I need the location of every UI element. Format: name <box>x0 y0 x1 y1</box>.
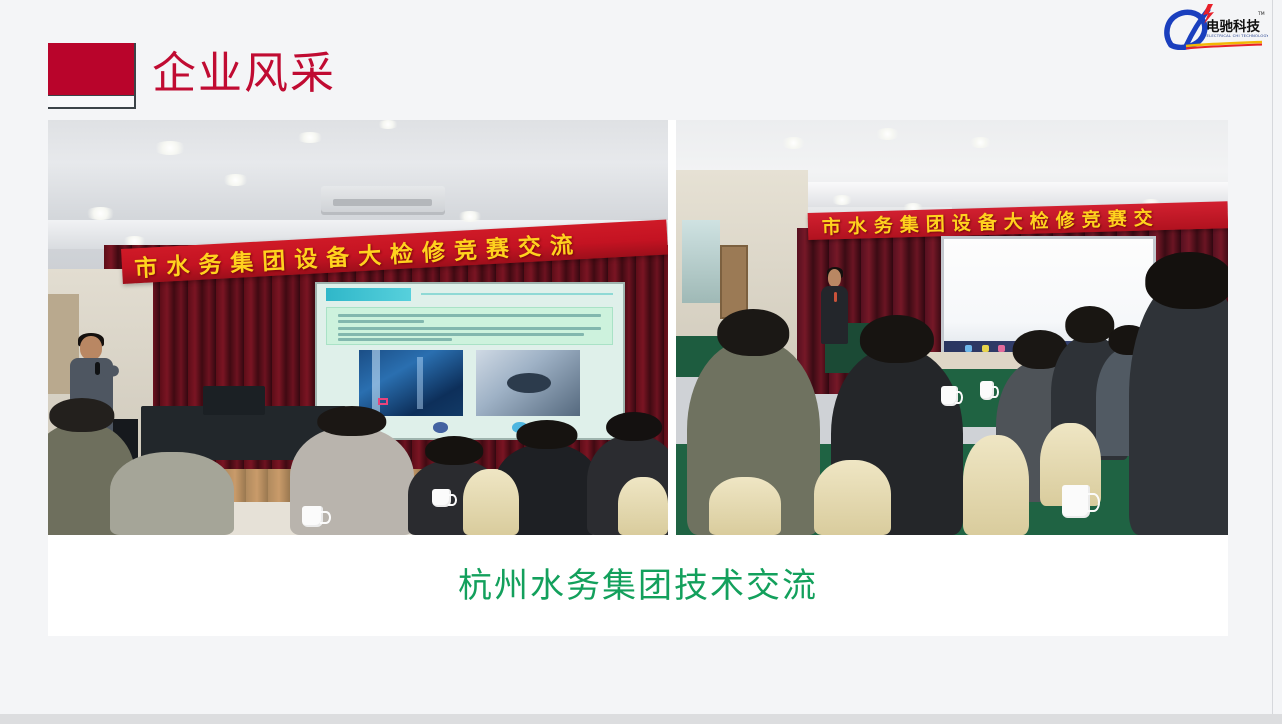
gallery-caption: 杭州水务集团技术交流 <box>458 564 818 608</box>
svg-text:电驰科技: 电驰科技 <box>1206 18 1260 35</box>
photo-gallery: 市水务集团设备大检修竞赛交流 <box>48 120 1228 535</box>
title-accent-block <box>48 43 136 109</box>
gallery-photo-2[interactable]: 市水务集团设备大检修竞赛交 <box>676 120 1228 535</box>
slide-header-bar <box>326 288 412 300</box>
photo1-downlight <box>222 174 250 186</box>
photo2-downlight <box>875 128 900 140</box>
attendee-head <box>1146 252 1228 309</box>
photo2-teacup <box>1062 485 1090 518</box>
page-root: 企业风采 电驰科技 ELECTRICAL CHI TECHNOLOGY TM <box>0 0 1282 724</box>
photo2-attendee <box>1129 278 1228 535</box>
slide-text-box <box>326 307 614 345</box>
presenter-microphone <box>834 292 837 302</box>
presenter-head <box>828 269 841 287</box>
photo2-presenter <box>820 269 850 344</box>
slide-photo-right <box>476 350 580 416</box>
slide-rule <box>421 293 614 295</box>
slide-text-line <box>338 314 601 317</box>
content-card: 市水务集团设备大检修竞赛交流 <box>48 120 1228 636</box>
attendee-head <box>860 315 934 364</box>
photo1-downlight <box>377 120 399 129</box>
gallery-photo-1[interactable]: 市水务集团设备大检修竞赛交流 <box>48 120 668 535</box>
svg-text:TM: TM <box>1257 11 1265 17</box>
photo2-chair <box>709 477 781 535</box>
page-header: 企业风采 电驰科技 ELECTRICAL CHI TECHNOLOGY TM <box>0 0 1282 120</box>
photo1-chair <box>463 469 519 535</box>
presenter-head <box>80 336 102 360</box>
svg-text:ELECTRICAL CHI TECHNOLOGY: ELECTRICAL CHI TECHNOLOGY <box>1207 34 1269 38</box>
caption-row: 杭州水务集团技术交流 <box>48 535 1228 636</box>
slide-highlight-box <box>378 398 387 405</box>
photo2-teacup <box>980 381 994 399</box>
slide-text-line <box>338 338 452 341</box>
photo1-air-conditioner <box>321 186 445 215</box>
photo2-downlight <box>781 137 806 149</box>
photo1-chair <box>618 477 668 535</box>
attendee-head <box>517 420 578 449</box>
brand-logo[interactable]: 电驰科技 ELECTRICAL CHI TECHNOLOGY TM <box>1160 2 1268 50</box>
photo2-door <box>720 245 748 320</box>
photo1-monitor <box>203 386 265 415</box>
slide-photo-left <box>359 350 463 416</box>
attendee-head <box>425 436 483 464</box>
taskbar-item <box>982 345 989 352</box>
slide-text-line <box>338 320 424 323</box>
page-title: 企业风采 <box>152 44 336 104</box>
photo2-downlight <box>969 137 992 148</box>
presenter-microphone <box>95 362 99 375</box>
photo1-teacup <box>302 506 323 527</box>
attendee-head <box>606 412 662 442</box>
attendee-head <box>49 398 114 432</box>
slide-text-line <box>338 327 601 330</box>
photo1-attendee <box>110 452 234 535</box>
photo1-downlight <box>153 141 187 155</box>
bottom-band <box>0 714 1282 724</box>
title-accent-strip <box>48 95 134 107</box>
photo1-teacup <box>432 489 451 506</box>
photo2-window <box>682 220 721 303</box>
photo2-chair <box>963 435 1029 535</box>
taskbar-item <box>965 345 972 352</box>
photo2-teacup <box>941 386 958 407</box>
attendee-head <box>718 309 790 356</box>
slide-footer-icon <box>433 422 448 433</box>
photo2-chair <box>814 460 891 535</box>
scrollbar-track[interactable] <box>1272 0 1273 714</box>
slide-text-line <box>338 333 584 336</box>
taskbar-item <box>998 345 1005 352</box>
photo2-downlight <box>831 195 853 205</box>
attendee-head <box>317 406 386 436</box>
